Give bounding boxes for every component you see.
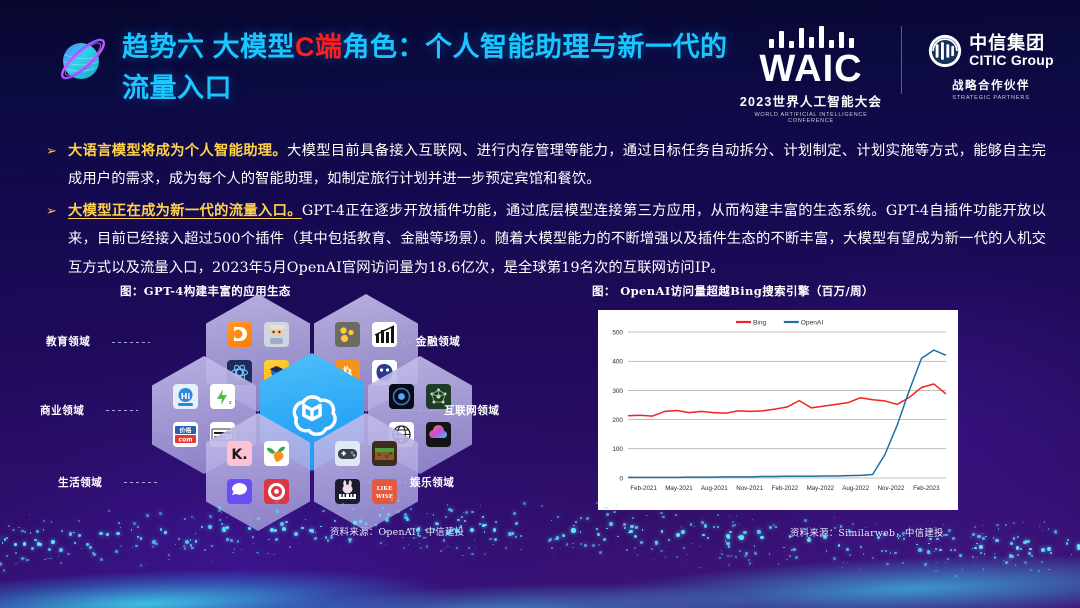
svg-text:com: com [179,436,193,443]
citic-english-name: CITIC Group [969,53,1054,68]
svg-text:Hi: Hi [181,392,191,401]
logo-group: WAIC 2023世界人工智能大会 WORLD ARTIFICIAL INTEL… [735,20,1066,112]
waic-logo: WAIC 2023世界人工智能大会 WORLD ARTIFICIAL INTEL… [735,20,887,124]
app-icon-minecraft [372,441,397,466]
hex-label-finance: 金融领域 [416,334,460,349]
gpt4-ecosystem-diagram: ₿ Hi z 价格com [150,300,480,525]
bullet-arrow-icon: ➢ [46,197,68,282]
hex-sector-life[interactable]: K. [206,413,310,531]
bullet-list: ➢ 大语言模型将成为个人智能助理。大模型目前具备接入互联网、进行内存管理等能力，… [46,137,1046,285]
app-icon-zapier: z [210,384,235,409]
openai-bing-traffic-chart: 0100200300400500 Feb-2021May-2021Aug-202… [598,310,958,510]
app-icon-opentable [264,479,289,504]
planet-icon [52,25,118,91]
bullet-item-1: ➢ 大语言模型将成为个人智能助理。大模型目前具备接入互联网、进行内存管理等能力，… [46,137,1046,194]
chart-svg: 0100200300400500 Feb-2021May-2021Aug-202… [598,310,958,510]
app-icon-duolingo [227,322,252,347]
app-icon-klarna: K. [227,441,252,466]
app-icon-shop-com: 价格com [173,422,198,447]
app-icon-stock-chart [372,322,397,347]
svg-text:0: 0 [619,475,623,482]
right-figure-caption: 图： OpenAI访问量超越Bing搜索引擎（百万/周） [592,283,874,299]
partner-chinese-label: 战略合作伙伴 [916,77,1066,93]
hex-label-business: 商业领域 [40,403,84,418]
app-icon-speak [264,322,289,347]
app-icon-messenger-purple [227,479,252,504]
page-title: 趋势六 大模型C端角色：个人智能助理与新一代的流量入口 [122,27,742,109]
app-icon-likewise: LIKEWISE [372,479,397,504]
series-line-bing [628,384,946,416]
partner-english-label: STRATEGIC PARTNERS [916,95,1066,101]
app-icon-game-controller [335,441,360,466]
hex-label-internet: 互联网领域 [444,403,499,418]
bullet-item-2: ➢ 大模型正在成为新一代的流量入口。GPT-4正在逐步开放插件功能，通过底层模型… [46,197,1046,282]
hex-sector-entertainment[interactable]: LIKEWISE [314,413,418,531]
svg-text:May-2022: May-2022 [807,485,835,492]
svg-text:Feb-2023: Feb-2023 [913,485,940,492]
citic-chinese-name: 中信集团 [969,34,1054,53]
svg-text:Aug-2022: Aug-2022 [842,485,869,492]
svg-text:z: z [229,400,232,406]
svg-text:500: 500 [612,329,623,336]
waic-wordmark: WAIC [735,49,887,89]
citic-logo: 中信集团 CITIC Group 战略合作伙伴 STRATEGIC PARTNE… [916,20,1066,101]
leader-line-education [112,342,150,343]
slide-root: 趋势六 大模型C端角色：个人智能助理与新一代的流量入口 WAIC 2023世界人… [0,0,1080,608]
title-highlight: C端 [295,32,343,62]
app-icon-coins [335,322,360,347]
bullet-text-1: 大语言模型将成为个人智能助理。大模型目前具备接入互联网、进行内存管理等能力，通过… [68,137,1046,194]
svg-text:价格: 价格 [179,426,192,434]
logo-divider [901,26,902,94]
svg-text:May-2021: May-2021 [665,485,693,492]
svg-text:400: 400 [612,359,623,366]
right-figure-source: 资料来源：Similarweb，中信建投 [790,525,944,539]
svg-text:100: 100 [612,446,623,453]
chart-legend: BingOpenAI [736,319,823,326]
hex-label-education: 教育领域 [46,334,90,349]
waic-bars-icon [735,24,887,48]
svg-text:Feb-2021: Feb-2021 [630,485,657,492]
chart-gridlines [628,332,946,478]
citic-emblem-icon [928,34,962,68]
leader-line-business [106,410,138,411]
svg-text:LIKE: LIKE [377,486,393,492]
entertainment-app-grid: LIKEWISE [314,413,418,531]
chart-series [628,350,946,477]
svg-text:Feb-2022: Feb-2022 [772,485,799,492]
bullet-lead-2: 大模型正在成为新一代的流量入口。 [68,203,302,219]
app-icon-cloud-color [426,422,451,447]
svg-text:200: 200 [612,417,623,424]
svg-text:Bing: Bing [753,319,767,326]
waic-chinese-name: 2023世界人工智能大会 [735,91,887,110]
app-icon-piano-rabbit [335,479,360,504]
leader-line-life [124,482,160,483]
bullet-arrow-icon: ➢ [46,137,68,194]
svg-text:WISE: WISE [375,494,393,500]
svg-text:Nov-2022: Nov-2022 [878,485,905,492]
app-icon-search-dark [389,384,414,409]
svg-text:Aug-2021: Aug-2021 [701,485,728,492]
hex-label-entertainment: 娱乐领域 [410,475,454,490]
svg-text:300: 300 [612,388,623,395]
chart-y-axis-ticks: 0100200300400500 [612,329,623,482]
title-part1: 趋势六 大模型 [122,32,295,62]
svg-text:K.: K. [231,447,247,463]
waic-english-name: WORLD ARTIFICIAL INTELLIGENCE CONFERENCE [733,112,888,124]
app-icon-instacart [264,441,289,466]
svg-text:Nov-2021: Nov-2021 [736,485,763,492]
bullet-text-2: 大模型正在成为新一代的流量入口。GPT-4正在逐步开放插件功能，通过底层模型连接… [68,197,1046,282]
hex-label-life: 生活领域 [58,475,102,490]
app-icon-hi-assistant: Hi [173,384,198,409]
series-line-openai [628,350,946,477]
chart-x-axis-ticks: Feb-2021May-2021Aug-2021Nov-2021Feb-2022… [630,485,940,492]
bullet-lead-1: 大语言模型将成为个人智能助理。 [68,143,287,159]
svg-text:OpenAI: OpenAI [801,319,824,326]
life-app-grid: K. [206,413,310,531]
